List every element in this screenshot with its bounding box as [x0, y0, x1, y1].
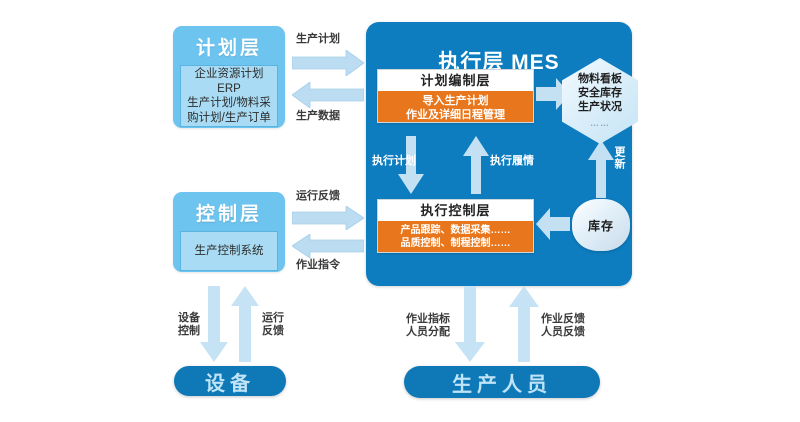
control-layer-title: 控制层 [196, 199, 262, 226]
arrow-label-equipment-feedback: 运行 反馈 [262, 312, 284, 338]
node-production-workers: 生产人员 [404, 366, 600, 398]
module-execution-control-body: 产品跟踪、数据采集…… 品质控制、制程控制…… [378, 221, 533, 253]
arrow-label-control-to-mes: 运行反馈 [296, 190, 340, 203]
arrow-mes-to-control [292, 234, 364, 258]
arrow-label-equipment-control: 设备 控制 [178, 312, 200, 338]
node-production-workers-label: 生产人员 [452, 368, 552, 397]
module-execution-control-title: 执行控制层 [378, 200, 533, 221]
arrow-plan-to-mes [292, 50, 364, 76]
arrow-label-plan-to-mes: 生产计划 [296, 33, 340, 46]
arrow-mes-to-plan [292, 82, 364, 108]
arrow-equipment-feedback-up [231, 286, 259, 362]
node-equipment: 设备 [174, 366, 286, 396]
arrow-inventory-to-execution [536, 208, 570, 240]
planning-layer-card: 计划层 企业资源计划 ERP 生产计划/物料采 购计划/生产订单 [173, 26, 285, 128]
arrow-label-mes-to-plan: 生产数据 [296, 110, 340, 123]
module-planning-compile-body: 导入生产计划 作业及详细日程管理 [378, 91, 533, 123]
planning-layer-content: 企业资源计划 ERP 生产计划/物料采 购计划/生产订单 [180, 65, 278, 127]
arrow-label-worker-feedback: 作业反馈 人员反馈 [541, 313, 585, 339]
planning-layer-title: 计划层 [196, 33, 262, 60]
arrow-update-up [588, 140, 614, 198]
arrow-label-worker-orders: 作业指标 人员分配 [406, 313, 450, 339]
hexagon-ellipsis: …… [590, 116, 610, 130]
control-layer-content: 生产控制系统 [180, 231, 278, 271]
inventory-label: 库存 [588, 217, 614, 234]
inventory-node: 库存 [572, 199, 630, 251]
arrow-label-exec-status-up: 执行履情 [490, 155, 534, 168]
arrow-label-update: 更新 [612, 146, 625, 170]
arrow-label-exec-plan-down: 执行计划 [372, 155, 416, 168]
mes-module-planning-compile: 计划编制层 导入生产计划 作业及详细日程管理 [377, 69, 534, 123]
control-layer-card: 控制层 生产控制系统 [173, 192, 285, 272]
mes-module-execution-control: 执行控制层 产品跟踪、数据采集…… 品质控制、制程控制…… [377, 199, 534, 253]
hexagon-line-3: 生产状况 [578, 100, 622, 114]
arrow-control-to-mes [292, 206, 364, 230]
arrow-label-mes-to-control: 作业指令 [296, 259, 340, 272]
diagram-canvas: 执行层 MES 计划编制层 导入生产计划 作业及详细日程管理 执行控制层 产品跟… [0, 0, 800, 422]
arrow-exec-status-up [463, 136, 489, 194]
hexagon-line-2: 安全库存 [578, 86, 622, 100]
arrow-worker-feedback-up [509, 286, 539, 362]
arrow-equipment-control-down [200, 286, 228, 362]
node-equipment-label: 设备 [205, 367, 255, 396]
hexagon-line-1: 物料看板 [578, 72, 622, 86]
arrow-worker-orders-down [455, 286, 485, 362]
module-planning-compile-title: 计划编制层 [378, 70, 533, 91]
